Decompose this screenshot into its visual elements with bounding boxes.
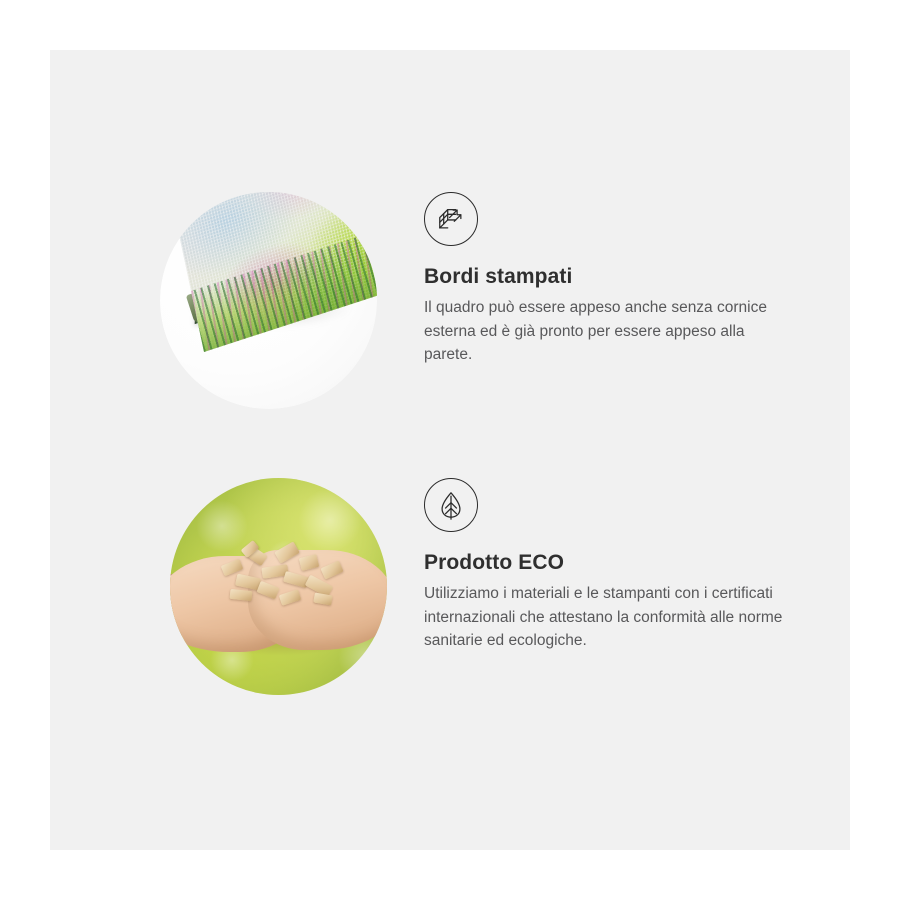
eco-scene bbox=[170, 478, 387, 695]
wood-chips-pile bbox=[218, 540, 350, 606]
canvas-scene bbox=[160, 192, 377, 409]
feature-text-bordi-stampati: Bordi stampati Il quadro può essere appe… bbox=[424, 192, 824, 367]
feature-title: Prodotto ECO bbox=[424, 550, 824, 576]
wrapped-canvas-edges-icon bbox=[424, 192, 478, 246]
wood-chips-in-hands-photo bbox=[170, 478, 387, 695]
wrapped-canvas-edges-glyph bbox=[436, 204, 466, 234]
leaf-glyph bbox=[436, 490, 466, 520]
page-root: Bordi stampati Il quadro può essere appe… bbox=[0, 0, 900, 900]
feature-block-bordi-stampati: Bordi stampati Il quadro può essere appe… bbox=[50, 192, 850, 462]
leaf-icon bbox=[424, 478, 478, 532]
content-panel: Bordi stampati Il quadro può essere appe… bbox=[50, 50, 850, 850]
feature-description: Il quadro può essere appeso anche senza … bbox=[424, 296, 796, 367]
feature-title: Bordi stampati bbox=[424, 264, 824, 290]
feature-block-prodotto-eco: Prodotto ECO Utilizziamo i materiali e l… bbox=[50, 478, 850, 748]
feature-text-prodotto-eco: Prodotto ECO Utilizziamo i materiali e l… bbox=[424, 478, 824, 653]
canvas-corner-photo bbox=[160, 192, 377, 409]
feature-description: Utilizziamo i materiali e le stampanti c… bbox=[424, 582, 796, 653]
